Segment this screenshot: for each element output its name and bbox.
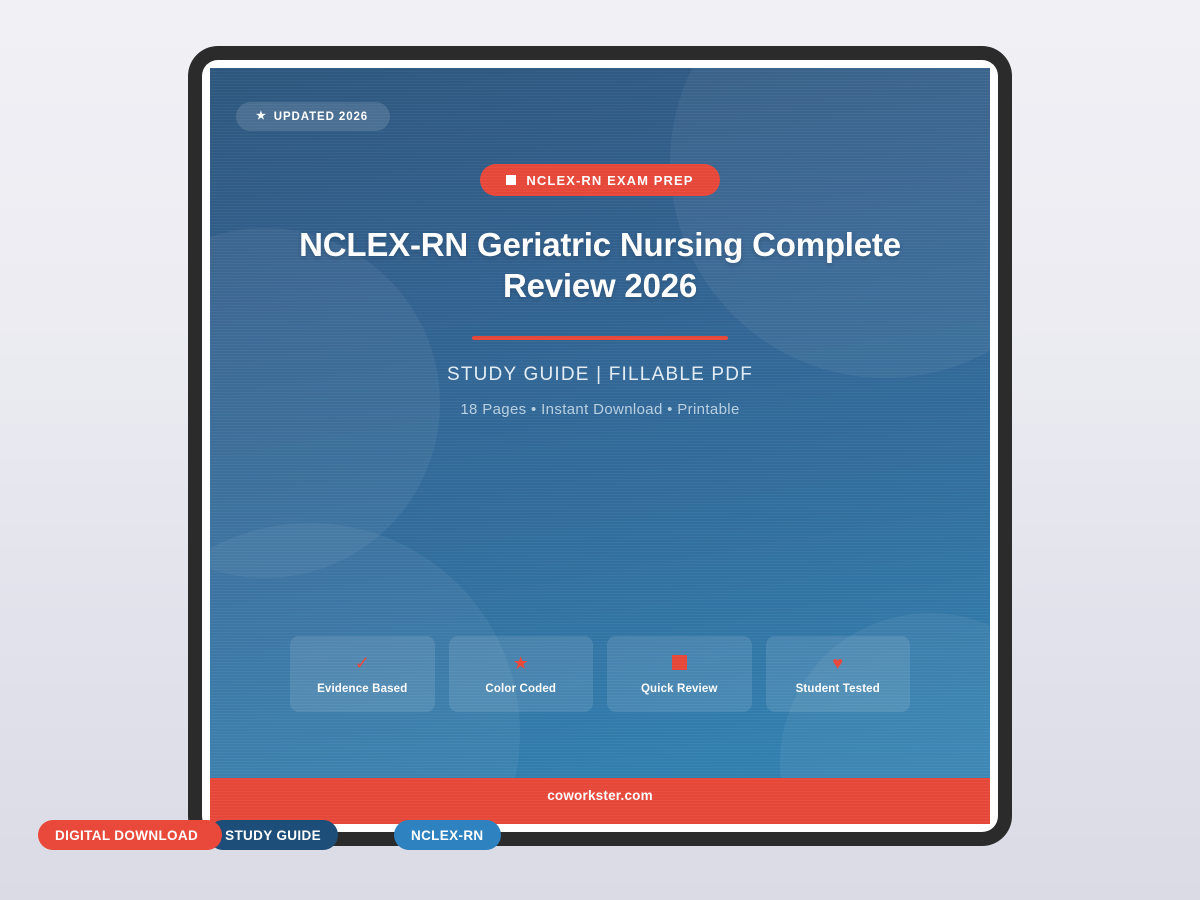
feature-label: Color Coded [485, 683, 556, 695]
check-icon: ✓ [355, 654, 370, 672]
updated-badge: ★ UPDATED 2026 [236, 102, 390, 131]
square-icon [672, 654, 687, 672]
meta-line: 18 Pages • Instant Download • Printable [210, 401, 990, 418]
square-icon [506, 175, 516, 185]
title-divider [472, 336, 728, 340]
feature-card-evidence-based: ✓ Evidence Based [290, 636, 435, 712]
poster-content: NCLEX-RN EXAM PREP NCLEX-RN Geriatric Nu… [210, 68, 990, 824]
device-frame: ★ UPDATED 2026 NCLEX-RN EXAM PREP NCLEX-… [188, 46, 1012, 846]
heart-icon: ♥ [832, 654, 843, 672]
product-poster: ★ UPDATED 2026 NCLEX-RN EXAM PREP NCLEX-… [210, 68, 990, 824]
tag-nclex-rn: NCLEX-RN [394, 820, 501, 850]
star-icon: ★ [256, 111, 267, 122]
feature-label: Quick Review [641, 683, 718, 695]
updated-badge-label: UPDATED 2026 [274, 111, 368, 123]
category-pill: NCLEX-RN EXAM PREP [480, 164, 719, 196]
tag-strip: DIGITAL DOWNLOAD STUDY GUIDE NCLEX-RN [38, 820, 501, 850]
feature-label: Evidence Based [317, 683, 407, 695]
feature-card-quick-review: Quick Review [607, 636, 752, 712]
category-pill-label: NCLEX-RN EXAM PREP [526, 173, 693, 188]
feature-label: Student Tested [796, 683, 880, 695]
tag-digital-download: DIGITAL DOWNLOAD [38, 820, 222, 850]
tag-study-guide: STUDY GUIDE [208, 820, 338, 850]
poster-footer: coworkster.com [210, 778, 990, 824]
feature-card-student-tested: ♥ Student Tested [766, 636, 911, 712]
page-title: NCLEX-RN Geriatric Nursing Complete Revi… [280, 224, 920, 307]
feature-card-color-coded: ★ Color Coded [449, 636, 594, 712]
star-icon: ★ [513, 654, 529, 672]
format-line: STUDY GUIDE | FILLABLE PDF [210, 364, 990, 386]
footer-site-label: coworkster.com [547, 788, 653, 803]
feature-row: ✓ Evidence Based ★ Color Coded Quick Rev… [210, 636, 990, 712]
device-screen: ★ UPDATED 2026 NCLEX-RN EXAM PREP NCLEX-… [202, 60, 998, 832]
